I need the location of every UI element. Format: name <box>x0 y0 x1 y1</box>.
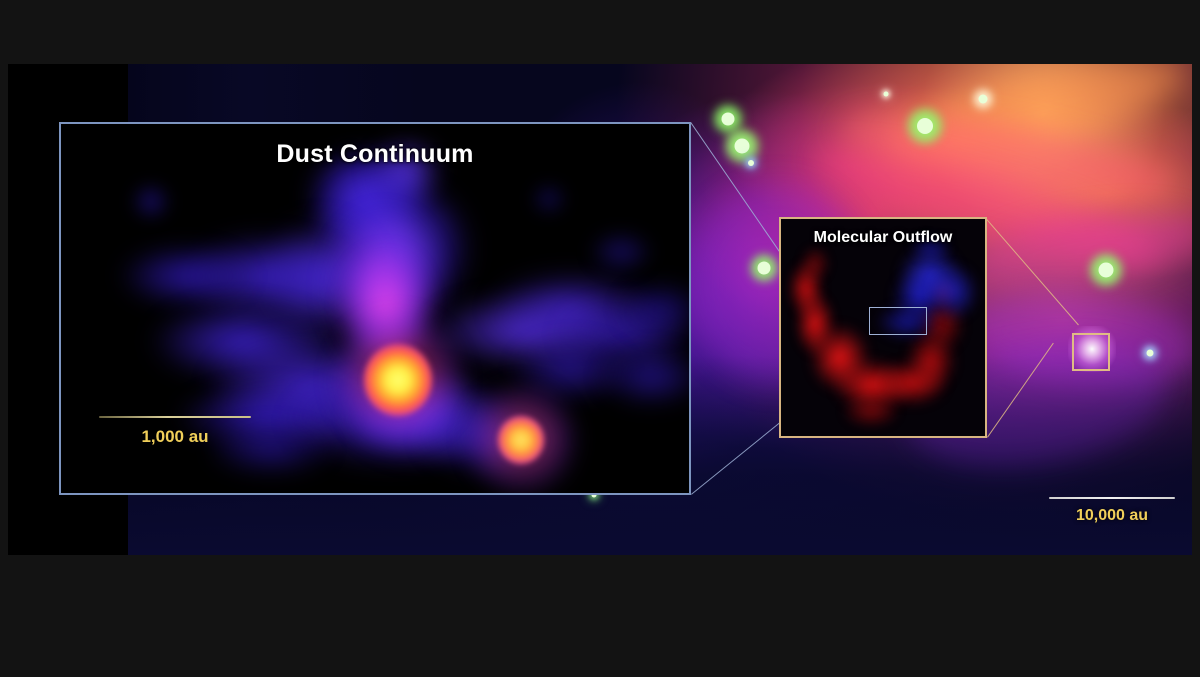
scalebar-dust-line <box>99 416 251 418</box>
star-source-7 <box>750 254 778 282</box>
panel-dust-continuum[interactable]: Dust Continuum 1,000 au <box>59 122 691 495</box>
star-source-9 <box>1143 346 1157 360</box>
star-source-6 <box>881 89 891 99</box>
scalebar-wide-label: 10,000 au <box>1049 507 1175 525</box>
source-highlight-box[interactable] <box>1072 333 1110 371</box>
figure-canvas: 10,000 au <box>0 0 1200 677</box>
scalebar-dust-continuum: 1,000 au <box>99 416 251 447</box>
protostar-secondary <box>498 416 544 464</box>
dust-emission-outlier <box>131 184 171 219</box>
panel-molecular-outflow[interactable]: Molecular Outflow <box>779 217 987 438</box>
dust-emission-east-filament <box>601 349 691 404</box>
star-source-8 <box>1090 254 1122 286</box>
star-source-4 <box>908 109 942 143</box>
inset-zoom-rectangle[interactable] <box>869 307 927 335</box>
star-source-5 <box>973 89 993 109</box>
dust-emission-blob <box>121 246 251 306</box>
protostar-primary <box>364 344 432 416</box>
scalebar-dust-label: 1,000 au <box>99 427 251 447</box>
image-frame: 10,000 au <box>8 64 1192 555</box>
outflow-blue-emission <box>931 265 977 319</box>
panel-title-dust-continuum: Dust Continuum <box>61 140 689 169</box>
star-source-3 <box>744 156 758 170</box>
outflow-red-emission <box>843 397 899 427</box>
dust-emission-outlier <box>531 184 567 214</box>
outflow-red-emission <box>801 247 829 281</box>
scalebar-wide-field: 10,000 au <box>1049 497 1175 525</box>
dust-emission-outlier <box>591 232 651 272</box>
dust-emission-east-filament <box>621 284 691 334</box>
scalebar-wide-line <box>1049 497 1175 499</box>
panel-title-molecular-outflow: Molecular Outflow <box>781 229 985 247</box>
